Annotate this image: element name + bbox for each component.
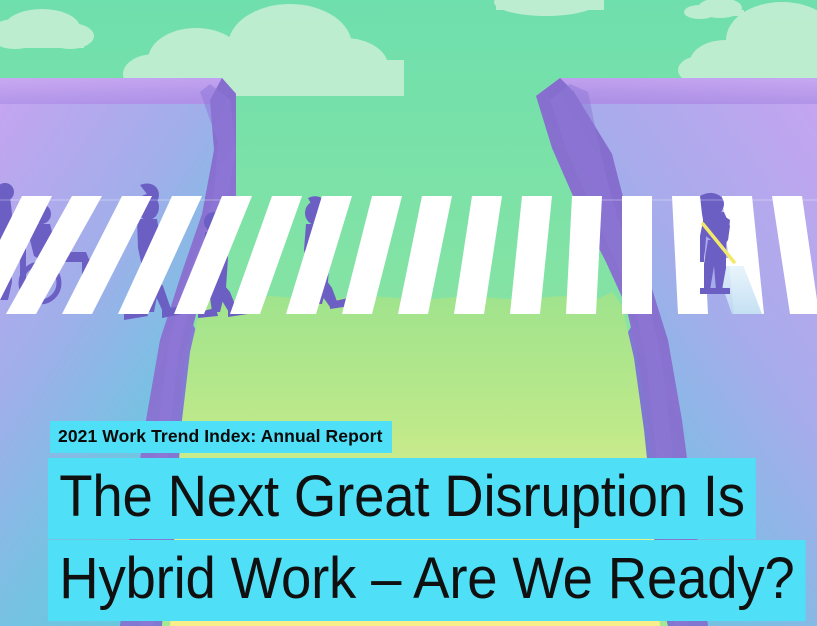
cover-illustration bbox=[0, 0, 817, 626]
report-cover: 2021 Work Trend Index: Annual Report The… bbox=[0, 0, 817, 626]
crosswalk-stripe bbox=[622, 196, 652, 314]
worker-shoe-2 bbox=[714, 288, 730, 294]
chasm-shape bbox=[170, 292, 660, 626]
worker-shoe-1 bbox=[700, 288, 716, 294]
worker-head bbox=[704, 194, 724, 214]
chasm-gap bbox=[170, 292, 660, 626]
crosswalk-stripe bbox=[566, 196, 602, 314]
